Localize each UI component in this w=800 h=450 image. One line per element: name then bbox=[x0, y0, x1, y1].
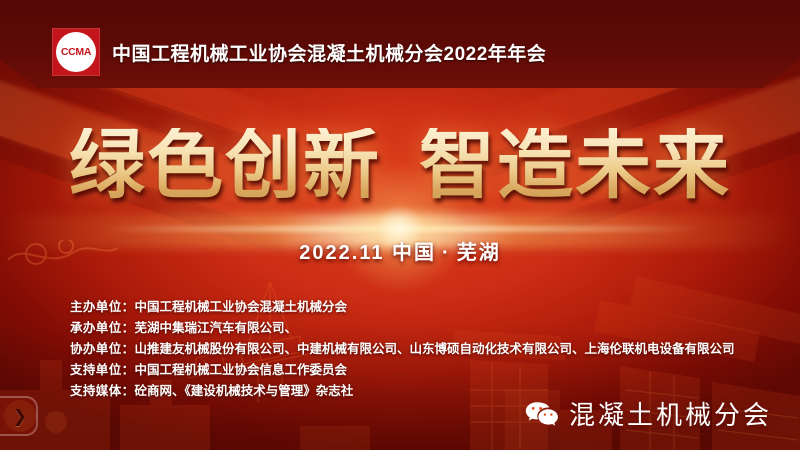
credit-line: 支持单位：中国工程机械工业协会信息工作委员会 bbox=[70, 360, 735, 381]
wechat-badge[interactable]: 混凝土机械分会 bbox=[525, 395, 772, 432]
event-country: 中国 bbox=[392, 242, 436, 264]
ccma-logo-text: CCMA bbox=[61, 46, 91, 58]
headline-part-2: 智造未来 bbox=[419, 123, 731, 208]
credit-value: 芜湖中集瑞江汽车有限公司、 bbox=[135, 321, 298, 335]
credits-block: 主办单位：中国工程机械工业协会混凝土机械分会 承办单位：芜湖中集瑞江汽车有限公司… bbox=[70, 297, 735, 402]
wechat-icon bbox=[525, 401, 559, 427]
credit-label: 支持单位： bbox=[70, 363, 135, 377]
conference-poster: CCMA 中国工程机械工业协会混凝土机械分会2022年年会 绿色创新智造未来 2… bbox=[0, 0, 800, 450]
ccma-logo: CCMA bbox=[52, 28, 100, 76]
credit-value: 中国工程机械工业协会混凝土机械分会 bbox=[135, 300, 348, 314]
page-title: 绿色创新智造未来 bbox=[0, 128, 800, 204]
credit-value: 中国工程机械工业协会信息工作委员会 bbox=[135, 363, 348, 377]
next-button[interactable]: ❯ bbox=[0, 396, 38, 436]
ccma-logo-disc: CCMA bbox=[56, 32, 96, 72]
credit-label: 支持媒体： bbox=[70, 384, 135, 398]
credit-line: 协办单位：山推建友机械股份有限公司、中建机械有限公司、山东博硕自动化技术有限公司… bbox=[70, 339, 735, 360]
light-streak-core bbox=[0, 226, 800, 232]
header-title: 中国工程机械工业协会混凝土机械分会2022年年会 bbox=[112, 39, 546, 66]
event-date: 2022.11 bbox=[299, 242, 384, 264]
event-date-location: 2022.11 中国·芜湖 bbox=[0, 236, 800, 265]
credit-value: 山推建友机械股份有限公司、中建机械有限公司、山东博硕自动化技术有限公司、上海伦联… bbox=[135, 342, 735, 356]
credit-label: 协办单位： bbox=[70, 342, 135, 356]
credit-label: 主办单位： bbox=[70, 300, 135, 314]
credit-line: 承办单位：芜湖中集瑞江汽车有限公司、 bbox=[70, 318, 735, 339]
headline-part-1: 绿色创新 bbox=[69, 123, 381, 208]
event-separator: · bbox=[442, 242, 451, 264]
event-city: 芜湖 bbox=[457, 242, 501, 264]
credit-label: 承办单位： bbox=[70, 321, 135, 335]
credit-value: 砼商网、《建设机械技术与管理》杂志社 bbox=[135, 384, 354, 398]
header-row: CCMA 中国工程机械工业协会混凝土机械分会2022年年会 bbox=[52, 28, 546, 76]
wechat-label: 混凝土机械分会 bbox=[569, 395, 772, 432]
chevron-right-icon: ❯ bbox=[13, 408, 27, 425]
credit-line: 主办单位：中国工程机械工业协会混凝土机械分会 bbox=[70, 297, 735, 318]
